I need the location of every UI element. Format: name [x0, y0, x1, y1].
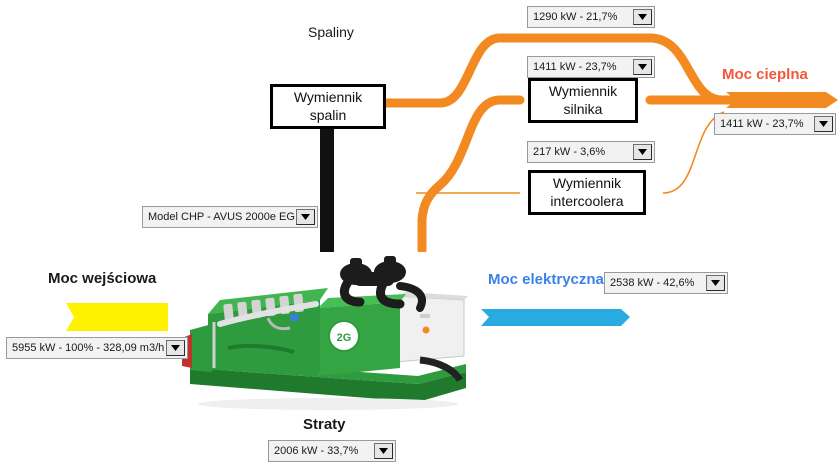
chp-energy-flow-diagram: 2G [0, 0, 840, 472]
select-chp-model-value: Model CHP - AVUS 2000e EG [143, 207, 296, 227]
select-input-power[interactable]: 5955 kW - 100% - 328,09 m3/h [6, 337, 188, 359]
select-electric-power-value: 2538 kW - 42,6% [605, 273, 706, 293]
unit-box-exhaust-exchanger-text: Wymiennik spalin [294, 89, 362, 124]
input-power-arrow [66, 303, 180, 331]
unit-line-2: intercoolera [550, 193, 623, 209]
unit-box-intercooler-exchanger: Wymiennik intercoolera [528, 170, 646, 215]
select-exhaust-heat[interactable]: 1290 kW - 21,7% [527, 6, 655, 28]
unit-line-2: spalin [310, 107, 347, 123]
select-intercooler-heat[interactable]: 217 kW - 3,6% [527, 141, 655, 163]
select-losses[interactable]: 2006 kW - 33,7% [268, 440, 396, 462]
svg-text:2G: 2G [337, 332, 352, 344]
select-total-heat-value: 1411 kW - 23,7% [715, 114, 814, 134]
chp-engine-photo: 2G [168, 252, 478, 414]
select-intercooler-heat-value: 217 kW - 3,6% [528, 142, 633, 162]
chevron-down-icon[interactable] [706, 275, 725, 291]
label-moc-cieplna: Moc cieplna [722, 66, 808, 83]
chevron-down-icon[interactable] [633, 59, 652, 75]
unit-line-1: Wymiennik [553, 175, 621, 191]
chp-engine-illustration: 2G [168, 252, 478, 414]
chevron-down-icon[interactable] [296, 209, 315, 225]
unit-line-1: Wymiennik [294, 89, 362, 105]
chevron-down-icon[interactable] [166, 340, 185, 356]
select-electric-power[interactable]: 2538 kW - 42,6% [604, 272, 728, 294]
unit-line-1: Wymiennik [549, 83, 617, 99]
unit-box-exhaust-exchanger: Wymiennik spalin [270, 84, 386, 129]
exhaust-duct [315, 112, 339, 263]
select-chp-model[interactable]: Model CHP - AVUS 2000e EG [142, 206, 318, 228]
label-moc-elektryczna: Moc elektryczna [488, 271, 604, 288]
select-exhaust-heat-value: 1290 kW - 21,7% [528, 7, 633, 27]
label-moc-wejsciowa: Moc wejściowa [48, 270, 156, 287]
unit-box-intercooler-exchanger-text: Wymiennik intercoolera [550, 175, 623, 210]
chevron-down-icon[interactable] [633, 9, 652, 25]
select-engine-heat-value: 1411 kW - 23,7% [528, 57, 633, 77]
select-losses-value: 2006 kW - 33,7% [269, 441, 374, 461]
select-engine-heat[interactable]: 1411 kW - 23,7% [527, 56, 655, 78]
unit-box-engine-exchanger-text: Wymiennik silnika [549, 83, 617, 118]
select-input-power-value: 5955 kW - 100% - 328,09 m3/h [7, 338, 166, 358]
engine-heat-pipe-left [422, 100, 520, 250]
label-spaliny: Spaliny [308, 24, 354, 40]
unit-line-2: silnika [564, 101, 603, 117]
heat-output-arrow [726, 92, 838, 108]
label-straty: Straty [303, 416, 346, 433]
chevron-down-icon[interactable] [814, 116, 833, 132]
select-total-heat[interactable]: 1411 kW - 23,7% [714, 113, 836, 135]
electric-power-arrow [481, 309, 630, 326]
chevron-down-icon[interactable] [633, 144, 652, 160]
chevron-down-icon[interactable] [374, 443, 393, 459]
unit-box-engine-exchanger: Wymiennik silnika [528, 78, 638, 123]
